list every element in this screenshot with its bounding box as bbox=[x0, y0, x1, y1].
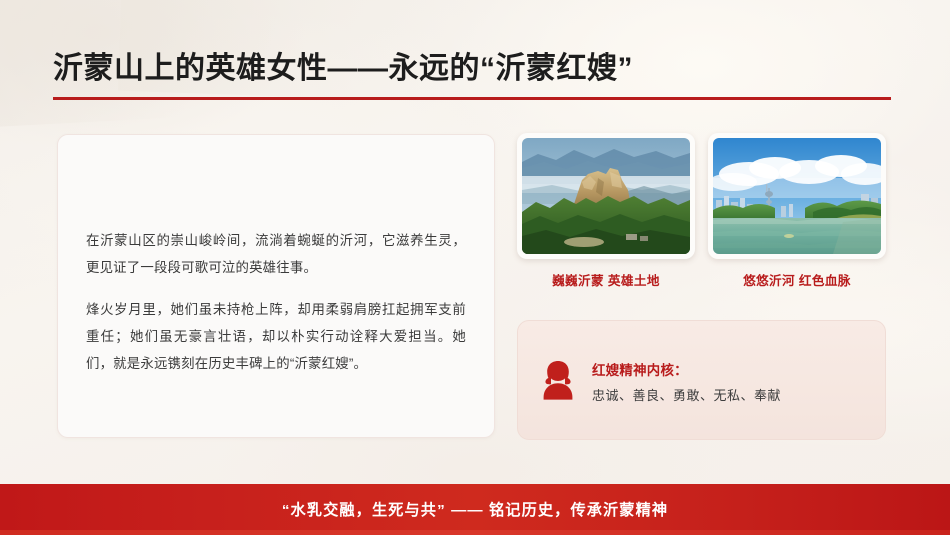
photo-row: 巍巍沂蒙 英雄土地 bbox=[517, 133, 886, 289]
spirit-card-title: 红嫂精神内核： bbox=[592, 359, 781, 379]
narrative-paragraph-2: 烽火岁月里，她们虽未持枪上阵，却用柔弱肩膀扛起拥军支前重任；她们虽无豪言壮语，却… bbox=[86, 296, 466, 377]
title-block: 沂蒙山上的英雄女性——永远的“沂蒙红嫂” bbox=[53, 50, 891, 100]
spirit-core-card: 红嫂精神内核： 忠诚、善良、勇敢、无私、奉献 bbox=[517, 320, 886, 440]
woman-silhouette-icon bbox=[538, 358, 578, 402]
narrative-text-panel: 在沂蒙山区的崇山峻岭间，流淌着蜿蜒的沂河，它滋养生灵，更见证了一段段可歌可泣的英… bbox=[57, 134, 495, 438]
title-underline-rule bbox=[53, 97, 891, 100]
photo-cell-river: 悠悠沂河 红色血脉 bbox=[708, 133, 886, 289]
spirit-card-values: 忠诚、善良、勇敢、无私、奉献 bbox=[592, 385, 781, 404]
photo-cell-mountain: 巍巍沂蒙 英雄土地 bbox=[517, 133, 695, 289]
photo-frame-mountain[interactable] bbox=[517, 133, 695, 259]
photo-caption-river: 悠悠沂河 红色血脉 bbox=[708, 270, 886, 289]
slide-canvas: 沂蒙山上的英雄女性——永远的“沂蒙红嫂” 在沂蒙山区的崇山峻岭间，流淌着蜿蜒的沂… bbox=[0, 0, 950, 535]
river-photo bbox=[713, 138, 881, 254]
footer-slogan: “水乳交融，生死与共” —— 铭记历史，传承沂蒙精神 bbox=[282, 498, 668, 520]
spirit-text-block: 红嫂精神内核： 忠诚、善良、勇敢、无私、奉献 bbox=[592, 357, 781, 404]
photo-frame-river[interactable] bbox=[708, 133, 886, 259]
mountain-photo bbox=[522, 138, 690, 254]
photo-caption-mountain: 巍巍沂蒙 英雄土地 bbox=[517, 270, 695, 289]
narrative-paragraph-1: 在沂蒙山区的崇山峻岭间，流淌着蜿蜒的沂河，它滋养生灵，更见证了一段段可歌可泣的英… bbox=[86, 227, 466, 281]
footer-underline-strip bbox=[0, 530, 950, 535]
page-title: 沂蒙山上的英雄女性——永远的“沂蒙红嫂” bbox=[53, 50, 891, 88]
footer-banner: “水乳交融，生死与共” —— 铭记历史，传承沂蒙精神 bbox=[0, 484, 950, 535]
